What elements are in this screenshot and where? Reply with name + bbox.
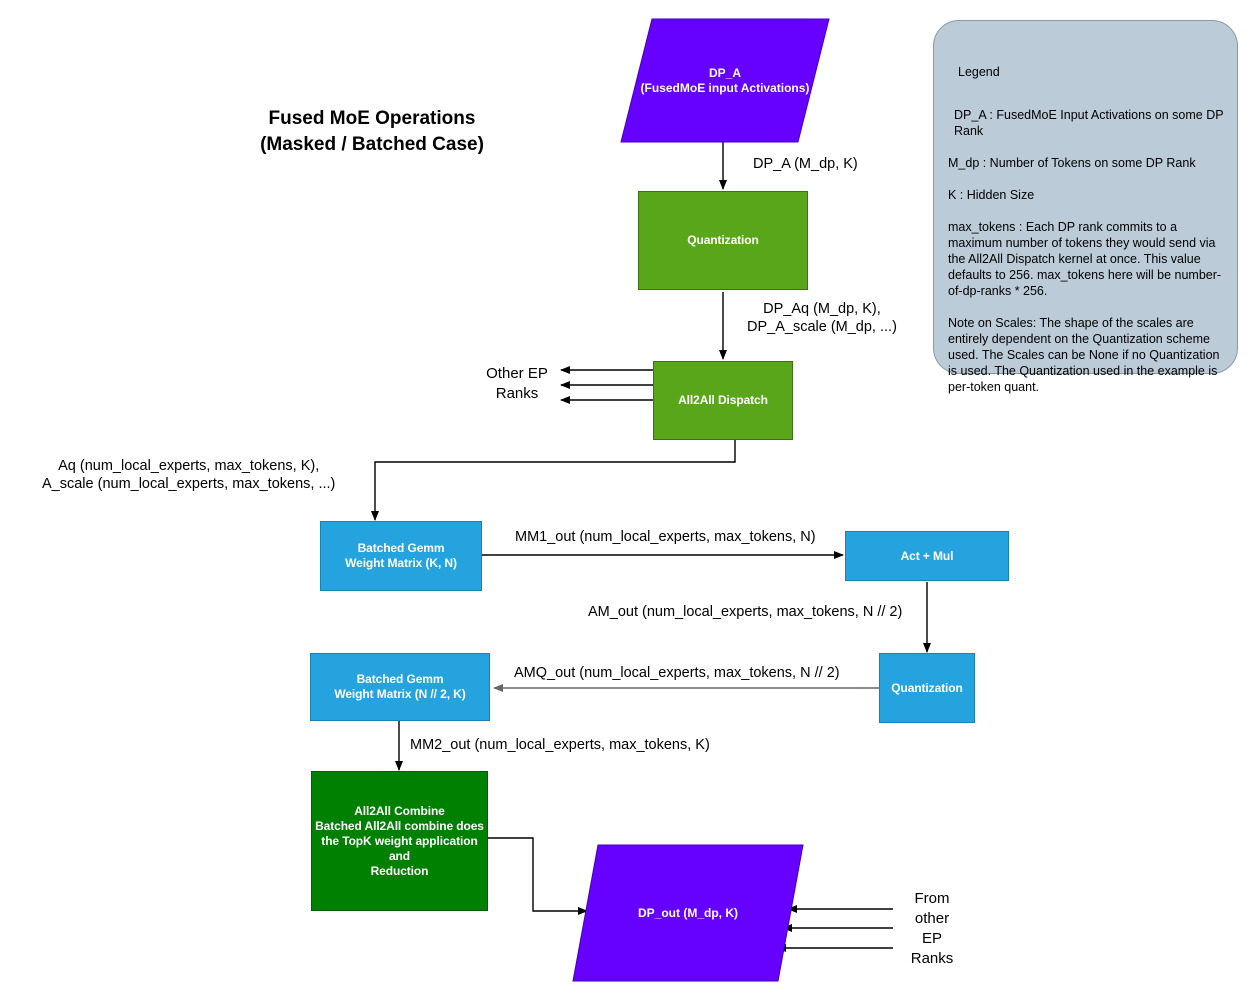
legend-entry-note-on-scales: Note on Scales: The shape of the scales …	[948, 315, 1225, 395]
node-all2all-combine[interactable]: All2All Combine Batched All2All combine …	[311, 771, 488, 911]
diagram-canvas: Fused MoE Operations (Masked / Batched C…	[0, 0, 1260, 1001]
node-dp-out[interactable]: DP_out (M_dp, K)	[572, 844, 804, 982]
edge-dispatch-to-gemm1	[375, 440, 735, 520]
node-quantization-2-label: Quantization	[891, 681, 962, 696]
edge-label-quant1-out: DP_Aq (M_dp, K), DP_A_scale (M_dp, ...)	[747, 300, 897, 336]
edge-label-am-out: AM_out (num_local_experts, max_tokens, N…	[588, 603, 902, 621]
diagram-title: Fused MoE Operations (Masked / Batched C…	[222, 106, 522, 158]
node-quantization-1-label: Quantization	[687, 233, 758, 248]
node-act-mul[interactable]: Act + Mul	[845, 531, 1009, 581]
node-act-mul-label: Act + Mul	[901, 549, 954, 564]
node-batched-gemm-1[interactable]: Batched Gemm Weight Matrix (K, N)	[320, 521, 482, 591]
label-other-ep-ranks: Other EP Ranks	[477, 364, 557, 404]
edge-label-dp-a-out: DP_A (M_dp, K)	[753, 155, 858, 173]
node-batched-gemm-1-label: Batched Gemm Weight Matrix (K, N)	[345, 541, 457, 571]
node-all2all-dispatch[interactable]: All2All Dispatch	[653, 361, 793, 440]
node-quantization-1[interactable]: Quantization	[638, 191, 808, 290]
node-quantization-2[interactable]: Quantization	[879, 653, 975, 723]
node-dp-a[interactable]: DP_A (FusedMoE input Activations)	[620, 18, 830, 143]
label-from-other-ep-ranks: From other EP Ranks	[898, 889, 966, 969]
edge-label-dispatch-out: Aq (num_local_experts, max_tokens, K), A…	[42, 457, 335, 493]
legend-entry-m-dp: M_dp : Number of Tokens on some DP Rank	[948, 155, 1225, 171]
edge-label-amq-out: AMQ_out (num_local_experts, max_tokens, …	[514, 664, 840, 682]
node-batched-gemm-2[interactable]: Batched Gemm Weight Matrix (N // 2, K)	[310, 653, 490, 721]
dp-a-shape	[620, 18, 830, 143]
edge-label-mm1-out: MM1_out (num_local_experts, max_tokens, …	[515, 528, 816, 546]
legend-heading: Legend	[958, 65, 1225, 79]
node-batched-gemm-2-label: Batched Gemm Weight Matrix (N // 2, K)	[334, 672, 465, 702]
node-all2all-combine-label: All2All Combine Batched All2All combine …	[312, 804, 487, 879]
dp-out-shape	[572, 844, 804, 982]
legend-entry-k: K : Hidden Size	[948, 187, 1225, 203]
edge-label-mm2-out: MM2_out (num_local_experts, max_tokens, …	[410, 736, 710, 754]
node-all2all-dispatch-label: All2All Dispatch	[678, 393, 768, 408]
legend-panel: Legend DP_A : FusedMoE Input Activations…	[933, 20, 1238, 374]
legend-entry-max-tokens: max_tokens : Each DP rank commits to a m…	[948, 219, 1225, 299]
legend-entry-dp-a: DP_A : FusedMoE Input Activations on som…	[954, 107, 1225, 139]
